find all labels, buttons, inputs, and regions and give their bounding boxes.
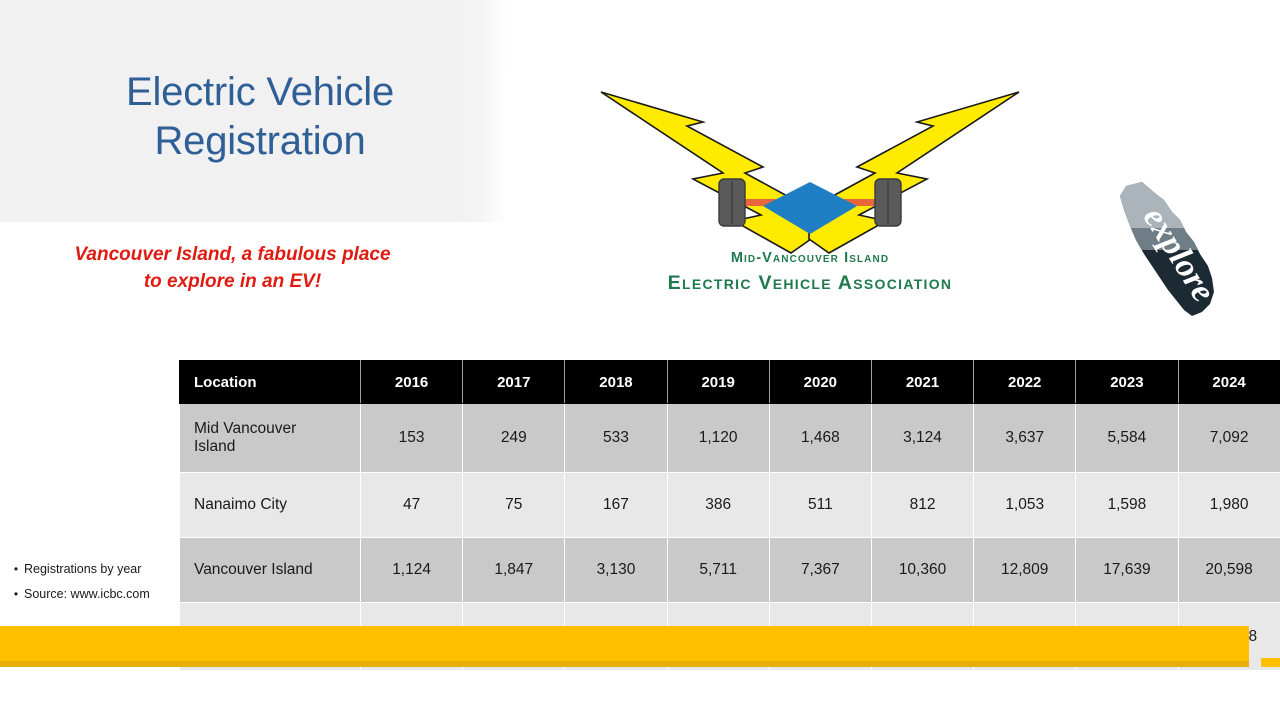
cell-nanaimo-2024: 1,980	[1178, 473, 1280, 538]
explore-vancouver-island-badge: explore	[1112, 180, 1227, 322]
table-row: Vancouver Island 1,124 1,847 3,130 5,711…	[180, 538, 1280, 603]
table-row: Nanaimo City 47 75 167 386 511 812 1,053…	[180, 473, 1280, 538]
ev-registration-table: Location 2016 2017 2018 2019 2020 2021 2…	[179, 360, 1280, 671]
cell-nanaimo-2016: 47	[361, 473, 463, 538]
cell-nanaimo-2023: 1,598	[1076, 473, 1178, 538]
logo-text-line-2: Electric Vehicle Association	[595, 272, 1025, 295]
cell-mvi-2023: 5,584	[1076, 404, 1178, 473]
row-label-mid-vancouver-island: Mid Vancouver Island	[180, 404, 361, 473]
column-header-2024[interactable]: 2024	[1178, 361, 1280, 404]
notes-bullet-list: • Registrations by year • Source: www.ic…	[8, 562, 188, 611]
footer-accent-tab	[1261, 658, 1280, 667]
cell-vi-2024: 20,598	[1178, 538, 1280, 603]
table-header: Location 2016 2017 2018 2019 2020 2021 2…	[180, 361, 1280, 404]
row-label-nanaimo-city: Nanaimo City	[180, 473, 361, 538]
cell-mvi-2016: 153	[361, 404, 463, 473]
page-title: Electric Vehicle Registration	[60, 68, 460, 166]
cell-nanaimo-2017: 75	[463, 473, 565, 538]
mvi-eva-logo: Mid-Vancouver Island Electric Vehicle As…	[595, 78, 1025, 328]
subtitle-line-1: Vancouver Island, a fabulous place	[40, 242, 425, 269]
bullet-text-registrations: Registrations by year	[24, 562, 188, 578]
bullet-dot-icon: •	[8, 587, 24, 602]
column-header-2018[interactable]: 2018	[565, 361, 667, 404]
title-line-1: Electric Vehicle	[60, 68, 460, 117]
cell-vi-2018: 3,130	[565, 538, 667, 603]
bullet-dot-icon: •	[8, 562, 24, 577]
list-item: • Source: www.icbc.com	[8, 587, 188, 603]
column-header-2016[interactable]: 2016	[361, 361, 463, 404]
title-line-2: Registration	[60, 117, 460, 166]
cell-mvi-2022: 3,637	[974, 404, 1076, 473]
table-row: Mid Vancouver Island 153 249 533 1,120 1…	[180, 404, 1280, 473]
cell-nanaimo-2020: 511	[769, 473, 871, 538]
column-header-2021[interactable]: 2021	[871, 361, 973, 404]
logo-text-line-1: Mid-Vancouver Island	[595, 250, 1025, 266]
column-header-2023[interactable]: 2023	[1076, 361, 1178, 404]
bullet-text-source: Source: www.icbc.com	[24, 587, 188, 603]
cell-vi-2023: 17,639	[1076, 538, 1178, 603]
cell-nanaimo-2018: 167	[565, 473, 667, 538]
table-header-row: Location 2016 2017 2018 2019 2020 2021 2…	[180, 361, 1280, 404]
cell-mvi-2020: 1,468	[769, 404, 871, 473]
logo-picture-panel: Mid-Vancouver Island Electric Vehicle As…	[505, 72, 1257, 360]
subtitle-tagline: Vancouver Island, a fabulous place to ex…	[40, 242, 425, 296]
cell-mvi-2017: 249	[463, 404, 565, 473]
cell-vi-2016: 1,124	[361, 538, 463, 603]
cell-nanaimo-2021: 812	[871, 473, 973, 538]
subtitle-line-2: to explore in an EV!	[40, 269, 425, 296]
slide-canvas: Electric Vehicle Registration Vancouver …	[0, 0, 1280, 720]
column-header-2019[interactable]: 2019	[667, 361, 769, 404]
island-silhouette-icon: explore	[1112, 180, 1227, 322]
row-label-vancouver-island: Vancouver Island	[180, 538, 361, 603]
cell-vi-2021: 10,360	[871, 538, 973, 603]
cell-nanaimo-2022: 1,053	[974, 473, 1076, 538]
cell-mvi-2018: 533	[565, 404, 667, 473]
cell-vi-2017: 1,847	[463, 538, 565, 603]
cell-vi-2022: 12,809	[974, 538, 1076, 603]
footer-accent-underline-right	[505, 661, 1249, 667]
row-label-line-1: Mid Vancouver	[194, 420, 296, 437]
cell-mvi-2019: 1,120	[667, 404, 769, 473]
cell-mvi-2024: 7,092	[1178, 404, 1280, 473]
cell-vi-2020: 7,367	[769, 538, 871, 603]
column-header-2020[interactable]: 2020	[769, 361, 871, 404]
column-header-2022[interactable]: 2022	[974, 361, 1076, 404]
cell-vi-2019: 5,711	[667, 538, 769, 603]
cell-nanaimo-2019: 386	[667, 473, 769, 538]
cell-mvi-2021: 3,124	[871, 404, 973, 473]
column-header-2017[interactable]: 2017	[463, 361, 565, 404]
row-label-line-2: Island	[194, 438, 235, 455]
column-header-location[interactable]: Location	[180, 361, 361, 404]
list-item: • Registrations by year	[8, 562, 188, 578]
